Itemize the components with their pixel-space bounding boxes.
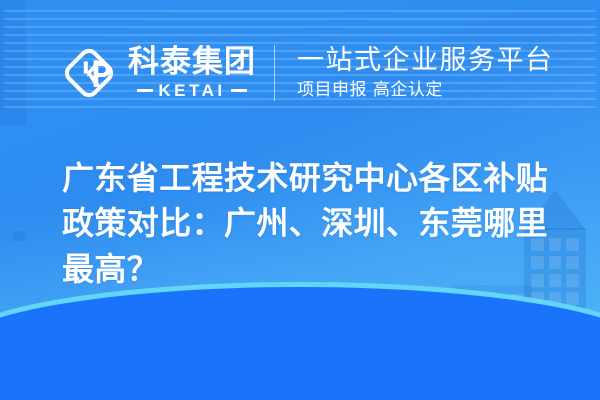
wordmark: 科泰集团 KETAI [128, 47, 256, 99]
slogan-main: 一站式企业服务平台 [297, 45, 554, 77]
promo-banner: 科泰集团 KETAI 一站式企业服务平台 项目申报 高企认定 广东省工程技术研究… [0, 0, 600, 400]
kp-diamond-monogram-icon [60, 44, 118, 102]
dash-left-icon [137, 89, 153, 92]
company-name-en-row: KETAI [128, 82, 256, 99]
brand-logo[interactable]: 科泰集团 KETAI [60, 44, 256, 102]
dash-right-icon [231, 89, 247, 92]
company-name-cn: 科泰集团 [128, 47, 256, 79]
company-name-en: KETAI [158, 82, 225, 99]
slogan-block: 一站式企业服务平台 项目申报 高企认定 [297, 45, 554, 102]
left-tower-cap [13, 231, 25, 241]
header-divider [274, 45, 275, 101]
slogan-sub: 项目申报 高企认定 [297, 79, 554, 101]
page-title: 广东省工程技术研究中心各区补贴政策对比：广州、深圳、东莞哪里最高？ [62, 156, 567, 292]
arc-fill [0, 287, 600, 400]
bottom-arc-band [0, 282, 600, 400]
banner-header: 科泰集团 KETAI 一站式企业服务平台 项目申报 高企认定 [0, 38, 600, 108]
